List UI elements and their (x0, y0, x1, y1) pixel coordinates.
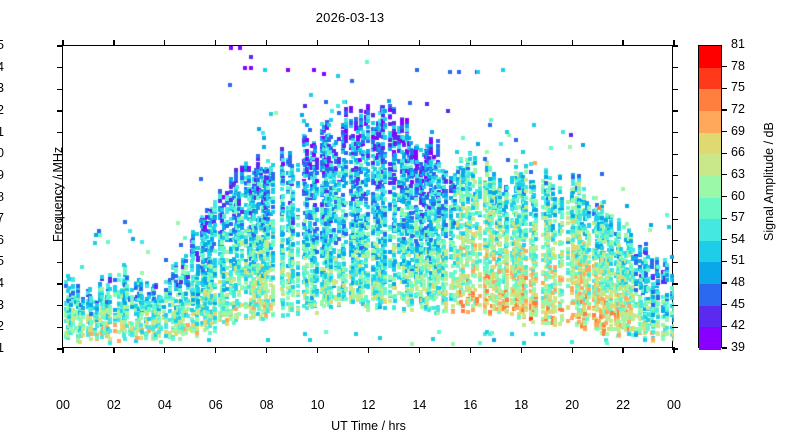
x-tick-label: 06 (196, 398, 236, 412)
colorbar-gradient (698, 45, 722, 348)
y-tick (57, 197, 63, 198)
y-tick-right (672, 240, 678, 241)
x-tick-top (113, 40, 114, 46)
colorbar-tick (722, 261, 727, 262)
colorbar-band (699, 68, 721, 90)
colorbar-tick (722, 239, 727, 240)
y-tick-label: 10 (0, 146, 4, 160)
x-tick-top (215, 40, 216, 46)
x-tick-label: 08 (247, 398, 287, 412)
y-tick-label: 4 (0, 276, 4, 290)
colorbar-tick-label: 66 (731, 145, 745, 159)
colorbar-tick (722, 282, 727, 283)
x-tick-label: 16 (450, 398, 490, 412)
colorbar-band (699, 89, 721, 111)
colorbar-tick-label: 78 (731, 59, 745, 73)
colorbar-tick (722, 196, 727, 197)
colorbar-band (699, 154, 721, 176)
y-tick-label: 11 (0, 125, 4, 139)
colorbar-tick (722, 174, 727, 175)
x-tick (113, 347, 114, 353)
colorbar-tick-label: 60 (731, 189, 745, 203)
x-tick-label: 12 (349, 398, 389, 412)
colorbar-band (699, 133, 721, 155)
x-tick-label: 20 (552, 398, 592, 412)
x-tick-top (317, 40, 318, 46)
ionogram-chart-page: 2026-03-13 Frequency / MHz UT Time / hrs… (0, 0, 800, 400)
y-tick-right (672, 197, 678, 198)
x-tick (572, 347, 573, 353)
colorbar-tick (722, 131, 727, 132)
x-tick (419, 347, 420, 353)
colorbar-tick (722, 347, 727, 348)
y-tick-right (672, 262, 678, 263)
y-tick (57, 240, 63, 241)
x-tick-top (368, 40, 369, 46)
x-tick-top (62, 40, 63, 46)
y-tick-label: 15 (0, 38, 4, 52)
x-tick-top (470, 40, 471, 46)
x-tick-label: 10 (298, 398, 338, 412)
y-tick-label: 8 (0, 190, 4, 204)
y-tick-right (672, 327, 678, 328)
colorbar-tick (722, 88, 727, 89)
y-tick-label: 1 (0, 341, 4, 355)
x-tick-label: 22 (603, 398, 643, 412)
x-tick (215, 347, 216, 353)
colorbar-tick-label: 48 (731, 275, 745, 289)
y-tick-right (672, 89, 678, 90)
x-tick-top (673, 40, 674, 46)
y-tick-label: 14 (0, 60, 4, 74)
y-tick-label: 12 (0, 103, 4, 117)
colorbar-tick-label: 54 (731, 232, 745, 246)
y-tick-label: 13 (0, 81, 4, 95)
colorbar-tick-label: 69 (731, 124, 745, 138)
colorbar-tick (722, 153, 727, 154)
x-tick (521, 347, 522, 353)
x-tick-top (419, 40, 420, 46)
y-tick-right (672, 283, 678, 284)
y-tick (57, 89, 63, 90)
colorbar-band (699, 284, 721, 306)
y-tick (57, 67, 63, 68)
colorbar-tick-label: 45 (731, 297, 745, 311)
y-tick-label: 2 (0, 319, 4, 333)
colorbar-tick (722, 109, 727, 110)
y-tick (57, 327, 63, 328)
y-tick-right (672, 110, 678, 111)
colorbar-tick-label: 57 (731, 210, 745, 224)
y-tick (57, 132, 63, 133)
y-tick-right (672, 132, 678, 133)
colorbar-band (699, 327, 721, 349)
x-tick-label: 00 (654, 398, 694, 412)
x-tick-top (572, 40, 573, 46)
y-tick-label: 9 (0, 168, 4, 182)
colorbar-band (699, 219, 721, 241)
colorbar-band (699, 306, 721, 328)
colorbar-tick-label: 81 (731, 37, 745, 51)
y-tick (57, 283, 63, 284)
x-tick-top (164, 40, 165, 46)
x-tick-label: 04 (145, 398, 185, 412)
colorbar-tick (722, 218, 727, 219)
y-tick (57, 305, 63, 306)
x-axis-title: UT Time / hrs (63, 419, 674, 433)
x-tick-label: 02 (94, 398, 134, 412)
y-tick-right (672, 305, 678, 306)
x-tick (266, 347, 267, 353)
x-tick (673, 347, 674, 353)
x-tick (317, 347, 318, 353)
colorbar-title: Signal Amplitude / dB (762, 122, 776, 241)
x-tick-top (266, 40, 267, 46)
y-tick-label: 3 (0, 298, 4, 312)
x-tick (368, 347, 369, 353)
colorbar-band (699, 241, 721, 263)
x-tick-label: 00 (43, 398, 83, 412)
y-tick (57, 175, 63, 176)
colorbar-tick-label: 75 (731, 80, 745, 94)
colorbar-band (699, 176, 721, 198)
y-tick (57, 262, 63, 263)
x-tick-label: 14 (399, 398, 439, 412)
colorbar-tick-label: 42 (731, 318, 745, 332)
x-tick (622, 347, 623, 353)
colorbar-band (699, 46, 721, 68)
colorbar-band (699, 111, 721, 133)
y-tick-right (672, 175, 678, 176)
y-axis-title: Frequency / MHz (51, 147, 65, 242)
colorbar-band (699, 198, 721, 220)
y-tick (57, 219, 63, 220)
colorbar-tick (722, 326, 727, 327)
chart-title: 2026-03-13 (0, 10, 700, 25)
y-tick-label: 7 (0, 211, 4, 225)
colorbar-tick-label: 51 (731, 253, 745, 267)
x-tick (62, 347, 63, 353)
colorbar-tick (722, 304, 727, 305)
colorbar-tick-label: 72 (731, 102, 745, 116)
y-tick (57, 110, 63, 111)
scatter-points-canvas (63, 46, 674, 349)
y-tick-right (672, 154, 678, 155)
x-tick-label: 18 (501, 398, 541, 412)
colorbar-tick (722, 66, 727, 67)
colorbar-tick-label: 63 (731, 167, 745, 181)
y-tick (57, 154, 63, 155)
y-tick-right (672, 67, 678, 68)
colorbar-band (699, 262, 721, 284)
colorbar-tick-label: 39 (731, 340, 745, 354)
x-tick-top (622, 40, 623, 46)
colorbar: Signal Amplitude / dB 817875726966636057… (698, 45, 798, 348)
y-tick-label: 6 (0, 233, 4, 247)
x-tick (164, 347, 165, 353)
y-tick-label: 5 (0, 254, 4, 268)
plot-area: Frequency / MHz UT Time / hrs 1234567891… (62, 45, 673, 348)
x-tick-top (521, 40, 522, 46)
y-tick-right (672, 219, 678, 220)
x-tick (470, 347, 471, 353)
